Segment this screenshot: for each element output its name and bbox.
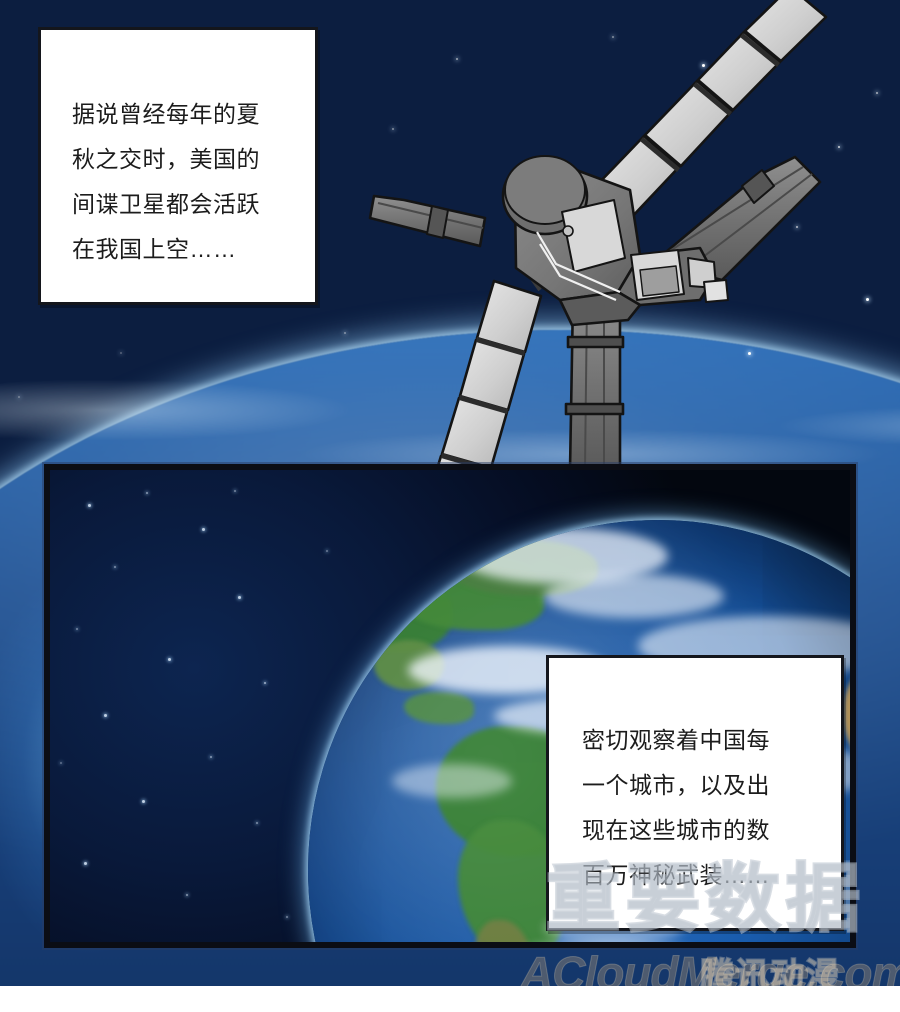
narration-text-top-left: 据说曾经每年的夏 秋之交时，美国的 间谍卫星都会活跃 在我国上空…… [72,92,294,272]
narration-text-bottom-right: 密切观察着中国每 一个城市，以及出 现在这些城市的数 百万神秘武装…… [582,718,814,898]
page-bottom-strip [0,986,900,1012]
narration-bubble-bottom-right: 密切观察着中国每 一个城市，以及出 现在这些城市的数 百万神秘武装…… [546,655,844,931]
narration-bubble-top-left: 据说曾经每年的夏 秋之交时，美国的 间谍卫星都会活跃 在我国上空…… [38,27,318,305]
comic-page: 重要数据 据说曾经每年的夏 秋之交时，美国的 间谍卫星都会活跃 在我国上空…… … [0,0,900,1012]
space-background-panel: 重要数据 据说曾经每年的夏 秋之交时，美国的 间谍卫星都会活跃 在我国上空…… … [0,0,900,986]
